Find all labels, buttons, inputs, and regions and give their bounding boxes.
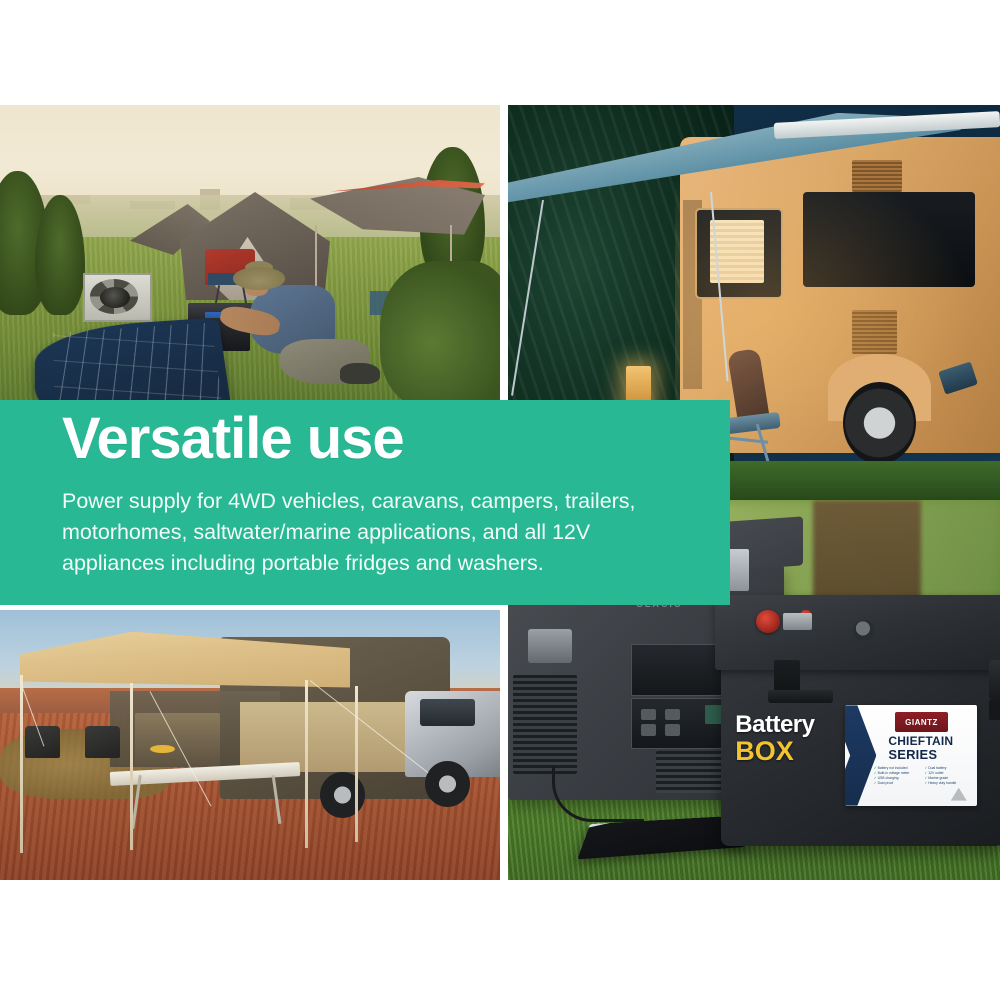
- feature-item: USB charging: [874, 776, 922, 780]
- awning-pole: [130, 683, 133, 850]
- page-title: Versatile use: [62, 410, 404, 468]
- person-shoe: [340, 363, 380, 384]
- chevron-graphic: [845, 705, 877, 805]
- battery-box-wordmark: Battery BOX: [735, 713, 841, 765]
- feature-item: Dust proof: [874, 781, 922, 785]
- battery-box: Battery BOX GIANTZ CHIEFTAIN SERIES Batt…: [715, 595, 1000, 846]
- vehicle-wheel: [425, 761, 470, 807]
- fridge-button[interactable]: [641, 724, 656, 735]
- fridge-vent: [513, 675, 577, 774]
- carry-handle[interactable]: [768, 690, 833, 703]
- series-title: CHIEFTAIN SERIES: [888, 735, 970, 761]
- feature-item: Built-in voltage meter: [874, 771, 922, 775]
- awning-pole: [20, 675, 23, 853]
- body-line-3: appliances including portable fridges an…: [62, 548, 722, 579]
- feature-item: 12V outlet: [924, 771, 972, 775]
- side-handle[interactable]: [989, 660, 1000, 700]
- awning-pole: [305, 680, 308, 847]
- vehicle-window: [420, 699, 475, 726]
- feature-item: Battery not included: [874, 766, 922, 770]
- wordmark-battery: Battery: [735, 713, 841, 737]
- camp-kitchen: [135, 713, 220, 767]
- product-sticker: GIANTZ CHIEFTAIN SERIES Battery not incl…: [845, 705, 978, 805]
- series-line-2: SERIES: [888, 748, 970, 762]
- caravan-wheel: [843, 382, 917, 465]
- callout-body-text: Power supply for 4WD vehicles, caravans,…: [62, 486, 722, 580]
- bush: [380, 261, 500, 405]
- battery-terminal-knob[interactable]: [756, 610, 780, 633]
- body-line-1: Power supply for 4WD vehicles, caravans,…: [62, 486, 722, 517]
- giantz-logo-text: GIANTZ: [905, 718, 938, 727]
- giantz-logo: GIANTZ: [895, 712, 948, 732]
- trailer-wheel: [320, 772, 365, 818]
- wordmark-box: BOX: [735, 737, 841, 765]
- feature-item: Heavy duty handle: [924, 781, 972, 785]
- photo-outback-camper-trailer-scene: [0, 610, 500, 880]
- fridge-button[interactable]: [665, 724, 680, 735]
- side-clip: [989, 700, 1000, 720]
- awning-pole: [355, 686, 358, 843]
- feature-item: Marine grade: [924, 776, 972, 780]
- fridge-handle: [528, 629, 572, 663]
- fridge-button[interactable]: [665, 709, 680, 720]
- feature-item: Dual battery: [924, 766, 972, 770]
- voltage-meter: [783, 613, 813, 631]
- fan-hub: [100, 287, 130, 308]
- photo-camping-tent-solar-scene: [0, 105, 500, 405]
- camp-chair: [85, 726, 120, 758]
- feature-list: Battery not includedDual batteryBuilt-in…: [874, 766, 972, 785]
- bucket-hat: [233, 267, 286, 290]
- recycle-triangle-icon: [951, 788, 967, 801]
- fridge-button[interactable]: [641, 709, 656, 720]
- body-line-2: motorhomes, saltwater/marine application…: [62, 517, 722, 548]
- product-marketing-image: GLACIO Battery BOX: [0, 0, 1000, 1000]
